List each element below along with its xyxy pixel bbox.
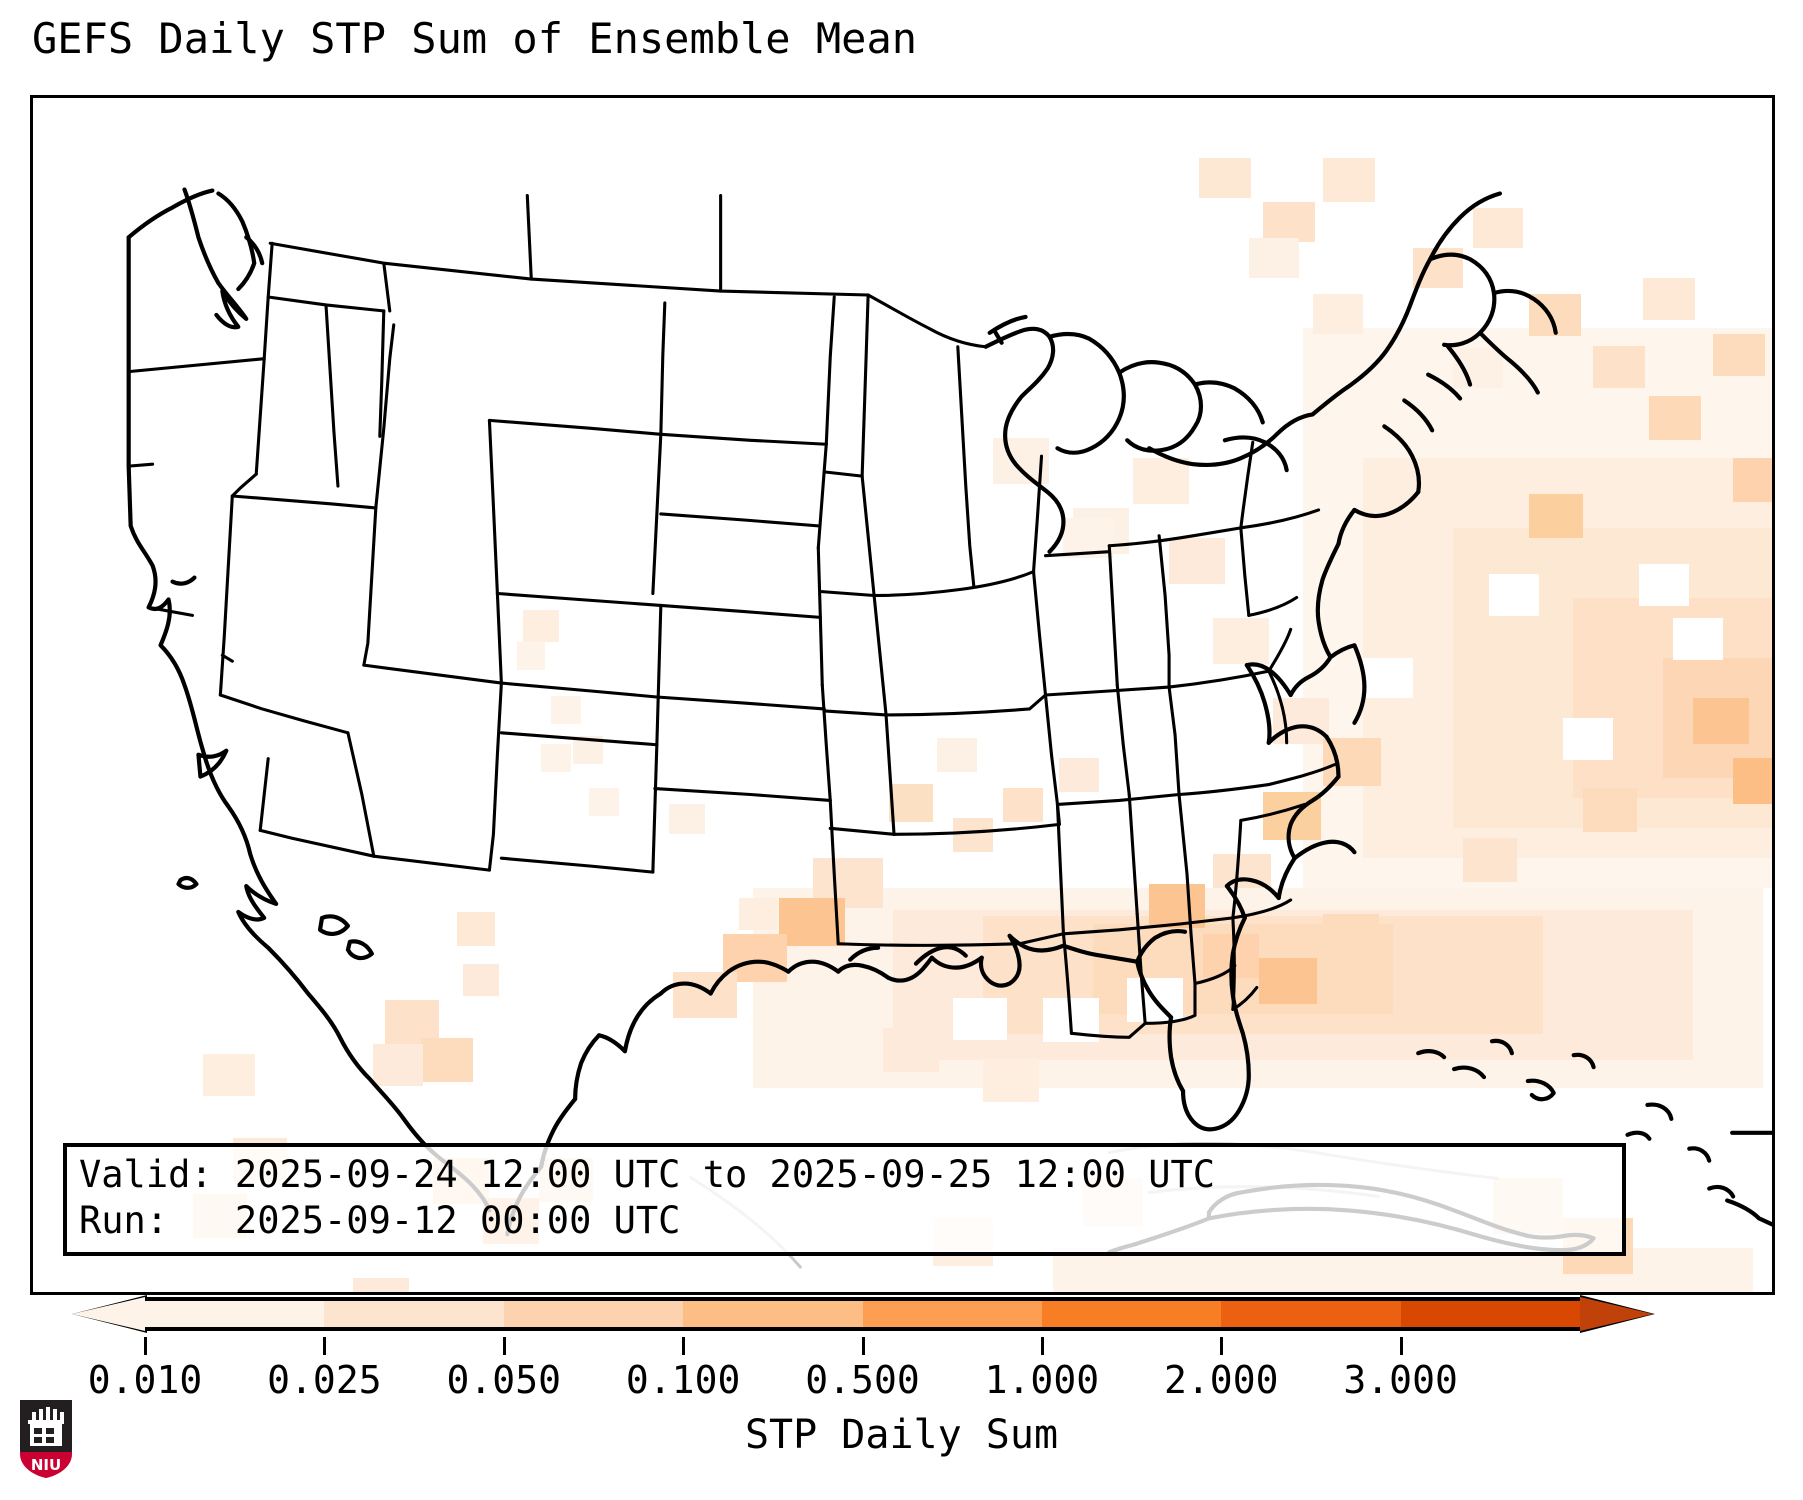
colorbar-tick-label-5: 1.000 xyxy=(985,1358,1099,1402)
colorbar-tick-1 xyxy=(323,1337,326,1355)
niu-logo-text: NIU xyxy=(31,1456,61,1474)
colorbar-tick-label-1: 0.025 xyxy=(267,1358,381,1402)
run-time-text: Run: 2025-09-12 00:00 UTC xyxy=(79,1199,680,1242)
map-raster-layer xyxy=(33,98,1772,1292)
colorbar-segment-6 xyxy=(1221,1301,1400,1327)
colorbar-tick-label-2: 0.050 xyxy=(447,1358,561,1402)
colorbar-tick-2 xyxy=(503,1337,506,1355)
colorbar-tick-7 xyxy=(1400,1337,1403,1355)
colorbar-tick-3 xyxy=(682,1337,685,1355)
colorbar-tick-label-4: 0.500 xyxy=(805,1358,919,1402)
colorbar-segment-5 xyxy=(1042,1301,1221,1327)
niu-logo: NIU xyxy=(16,1398,76,1480)
forecast-info-box: Valid: 2025-09-24 12:00 UTC to 2025-09-2… xyxy=(63,1143,1626,1256)
colorbar-ticks xyxy=(0,1337,1803,1357)
colorbar-tick-5 xyxy=(1041,1337,1044,1355)
colorbar-tick-label-7: 3.000 xyxy=(1343,1358,1457,1402)
colorbar-tick-6 xyxy=(1220,1337,1223,1355)
colorbar-tick-labels: 0.0100.0250.0500.1000.5001.0002.0003.000 xyxy=(0,1358,1803,1408)
colorbar-gradient xyxy=(145,1297,1580,1331)
map-geography xyxy=(33,98,1772,1292)
map-panel xyxy=(30,95,1775,1295)
colorbar xyxy=(0,1297,1803,1337)
colorbar-segment-2 xyxy=(504,1301,683,1327)
colorbar-tick-4 xyxy=(862,1337,865,1355)
colorbar-segment-4 xyxy=(863,1301,1042,1327)
colorbar-tick-label-0: 0.010 xyxy=(88,1358,202,1402)
colorbar-segment-1 xyxy=(324,1301,503,1327)
colorbar-axis-label: STP Daily Sum xyxy=(0,1412,1803,1458)
colorbar-tick-label-6: 2.000 xyxy=(1164,1358,1278,1402)
valid-time-text: Valid: 2025-09-24 12:00 UTC to 2025-09-2… xyxy=(79,1153,1215,1196)
colorbar-segment-0 xyxy=(145,1301,324,1327)
colorbar-tick-label-3: 0.100 xyxy=(626,1358,740,1402)
colorbar-tick-0 xyxy=(144,1337,147,1355)
colorbar-segment-3 xyxy=(683,1301,862,1327)
colorbar-under-arrow xyxy=(72,1297,145,1331)
colorbar-segment-7 xyxy=(1401,1301,1580,1327)
colorbar-over-arrow xyxy=(1580,1297,1653,1331)
page-title: GEFS Daily STP Sum of Ensemble Mean xyxy=(32,14,917,63)
